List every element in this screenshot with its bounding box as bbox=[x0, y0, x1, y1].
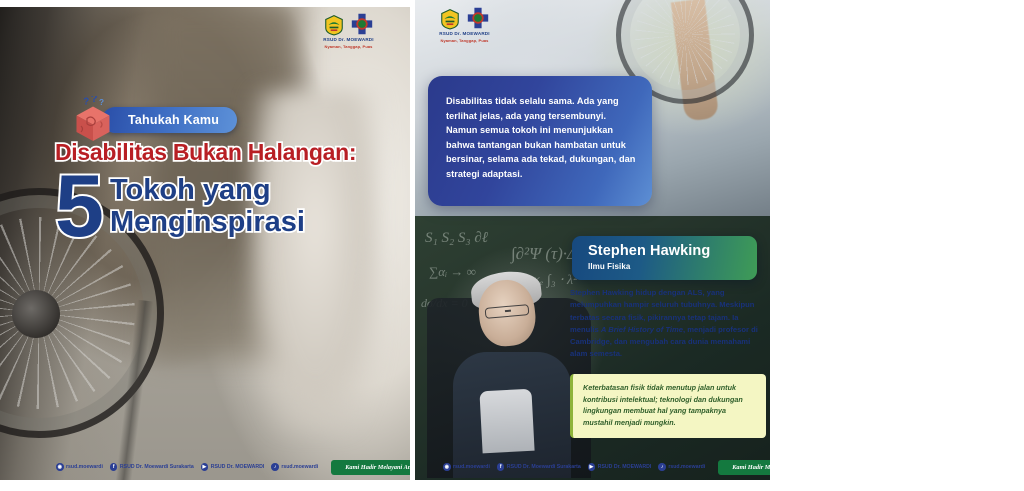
facebook-icon: f bbox=[497, 463, 505, 471]
social-instagram-handle: rsud.moewardi bbox=[66, 464, 103, 470]
medical-cross-icon bbox=[466, 6, 490, 30]
footer-social-bar: ◉ rsud.moewardi f RSUD Dr. Moewardi Sura… bbox=[415, 456, 770, 478]
figure-description: Stephen Hawking hidup dengan ALS, yang m… bbox=[570, 287, 766, 361]
logo-name-text: RSUD Dr. MOEWARDI bbox=[323, 37, 374, 43]
social-tiktok[interactable]: ♪ rsud.moewardi bbox=[271, 463, 318, 471]
figure-name-card: Stephen Hawking Ilmu Fisika bbox=[572, 236, 757, 280]
logo-tagline-text: Nyaman, Tanggap, Puas bbox=[324, 44, 372, 49]
social-facebook-handle: RSUD Dr. Moewardi Surakarta bbox=[507, 464, 581, 470]
intro-panel: Disabilitas tidak selalu sama. Ada yang … bbox=[428, 76, 652, 206]
footer-white-band bbox=[0, 480, 410, 491]
cta-chip[interactable]: Kami Hadir Melayani Anda bbox=[331, 460, 410, 475]
svg-text:?: ? bbox=[99, 98, 104, 107]
slide-cover: RSUD Dr. MOEWARDI Nyaman, Tanggap, Puas … bbox=[0, 0, 410, 491]
provincial-seal-icon bbox=[323, 14, 345, 36]
social-instagram[interactable]: ◉ rsud.moewardi bbox=[443, 463, 490, 471]
social-facebook[interactable]: f RSUD Dr. Moewardi Surakarta bbox=[110, 463, 194, 471]
slide-stephen-hawking: S₁ S₂ S₃ ∂ℓ ∫∂²Ψ (τ)·Δ ∑αᵢ → ∞ κₑ ∫₃ ⋅ λ… bbox=[415, 0, 770, 491]
social-youtube[interactable]: ▶ RSUD Dr. MOEWARDI bbox=[588, 463, 652, 471]
chalk-formula-1: S₁ S₂ S₃ ∂ℓ bbox=[425, 230, 488, 247]
headline-line-2: Menginspirasi bbox=[110, 207, 305, 238]
hospital-logo: RSUD Dr. MOEWARDI Nyaman, Tanggap, Puas bbox=[439, 6, 490, 43]
social-instagram-handle: rsud.moewardi bbox=[453, 464, 490, 470]
insight-box: Keterbatasan fisik tidak menutup jalan u… bbox=[570, 374, 766, 438]
insight-text: Keterbatasan fisik tidak menutup jalan u… bbox=[583, 382, 757, 429]
social-facebook-handle: RSUD Dr. Moewardi Surakarta bbox=[120, 464, 194, 470]
instagram-icon: ◉ bbox=[56, 463, 64, 471]
figure-description-block: Stephen Hawking hidup dengan ALS, yang m… bbox=[570, 287, 766, 361]
tiktok-icon: ♪ bbox=[271, 463, 279, 471]
poster-canvas: RSUD Dr. MOEWARDI Nyaman, Tanggap, Puas … bbox=[0, 0, 1024, 491]
facebook-icon: f bbox=[110, 463, 118, 471]
slide-gutter bbox=[410, 0, 415, 491]
figure-name: Stephen Hawking bbox=[588, 244, 743, 260]
top-white-band bbox=[0, 0, 410, 7]
instagram-icon: ◉ bbox=[443, 463, 451, 471]
stephen-hawking-portrait bbox=[423, 246, 595, 478]
headline-blue-lines: Tokoh yang Menginspirasi bbox=[110, 167, 305, 238]
youtube-icon: ▶ bbox=[588, 463, 596, 471]
social-tiktok-handle: rsud.moewardi bbox=[668, 464, 705, 470]
footer-social-bar: ◉ rsud.moewardi f RSUD Dr. Moewardi Sura… bbox=[0, 456, 410, 478]
social-facebook[interactable]: f RSUD Dr. Moewardi Surakarta bbox=[497, 463, 581, 471]
tahukah-kamu-badge[interactable]: ? ? ? Tahukah Kamu bbox=[70, 96, 237, 144]
cover-headline: Disabilitas Bukan Halangan: 5 Tokoh yang… bbox=[55, 140, 395, 243]
social-youtube[interactable]: ▶ RSUD Dr. MOEWARDI bbox=[201, 463, 265, 471]
footer-white-band bbox=[415, 480, 770, 491]
social-tiktok-handle: rsud.moewardi bbox=[281, 464, 318, 470]
intro-text: Disabilitas tidak selalu sama. Ada yang … bbox=[446, 94, 636, 181]
svg-text:?: ? bbox=[83, 96, 89, 107]
logo-tagline-text: Nyaman, Tanggap, Puas bbox=[440, 38, 488, 43]
cta-chip[interactable]: Kami Hadir Melayani Anda bbox=[718, 460, 770, 475]
logo-marks bbox=[323, 12, 374, 36]
headline-blue-row: 5 Tokoh yang Menginspirasi bbox=[55, 167, 395, 243]
badge-label[interactable]: Tahukah Kamu bbox=[102, 107, 237, 133]
medical-cross-icon bbox=[350, 12, 374, 36]
social-youtube-handle: RSUD Dr. MOEWARDI bbox=[211, 464, 265, 470]
provincial-seal-icon bbox=[439, 8, 461, 30]
headline-big-number: 5 bbox=[55, 169, 104, 243]
youtube-icon: ▶ bbox=[201, 463, 209, 471]
logo-name-text: RSUD Dr. MOEWARDI bbox=[439, 31, 490, 37]
tiktok-icon: ♪ bbox=[658, 463, 666, 471]
social-tiktok[interactable]: ♪ rsud.moewardi bbox=[658, 463, 705, 471]
svg-text:?: ? bbox=[91, 96, 98, 105]
puzzle-cube-icon: ? ? ? bbox=[70, 96, 116, 144]
social-instagram[interactable]: ◉ rsud.moewardi bbox=[56, 463, 103, 471]
logo-marks bbox=[439, 6, 490, 30]
hospital-logo: RSUD Dr. MOEWARDI Nyaman, Tanggap, Puas bbox=[323, 12, 374, 49]
headline-line-1: Tokoh yang bbox=[110, 175, 305, 206]
wheelchair-hub-shape bbox=[12, 290, 60, 338]
social-youtube-handle: RSUD Dr. MOEWARDI bbox=[598, 464, 652, 470]
figure-field: Ilmu Fisika bbox=[588, 262, 743, 271]
right-whitespace bbox=[770, 0, 1024, 491]
portrait-shirt-shape bbox=[479, 389, 534, 454]
